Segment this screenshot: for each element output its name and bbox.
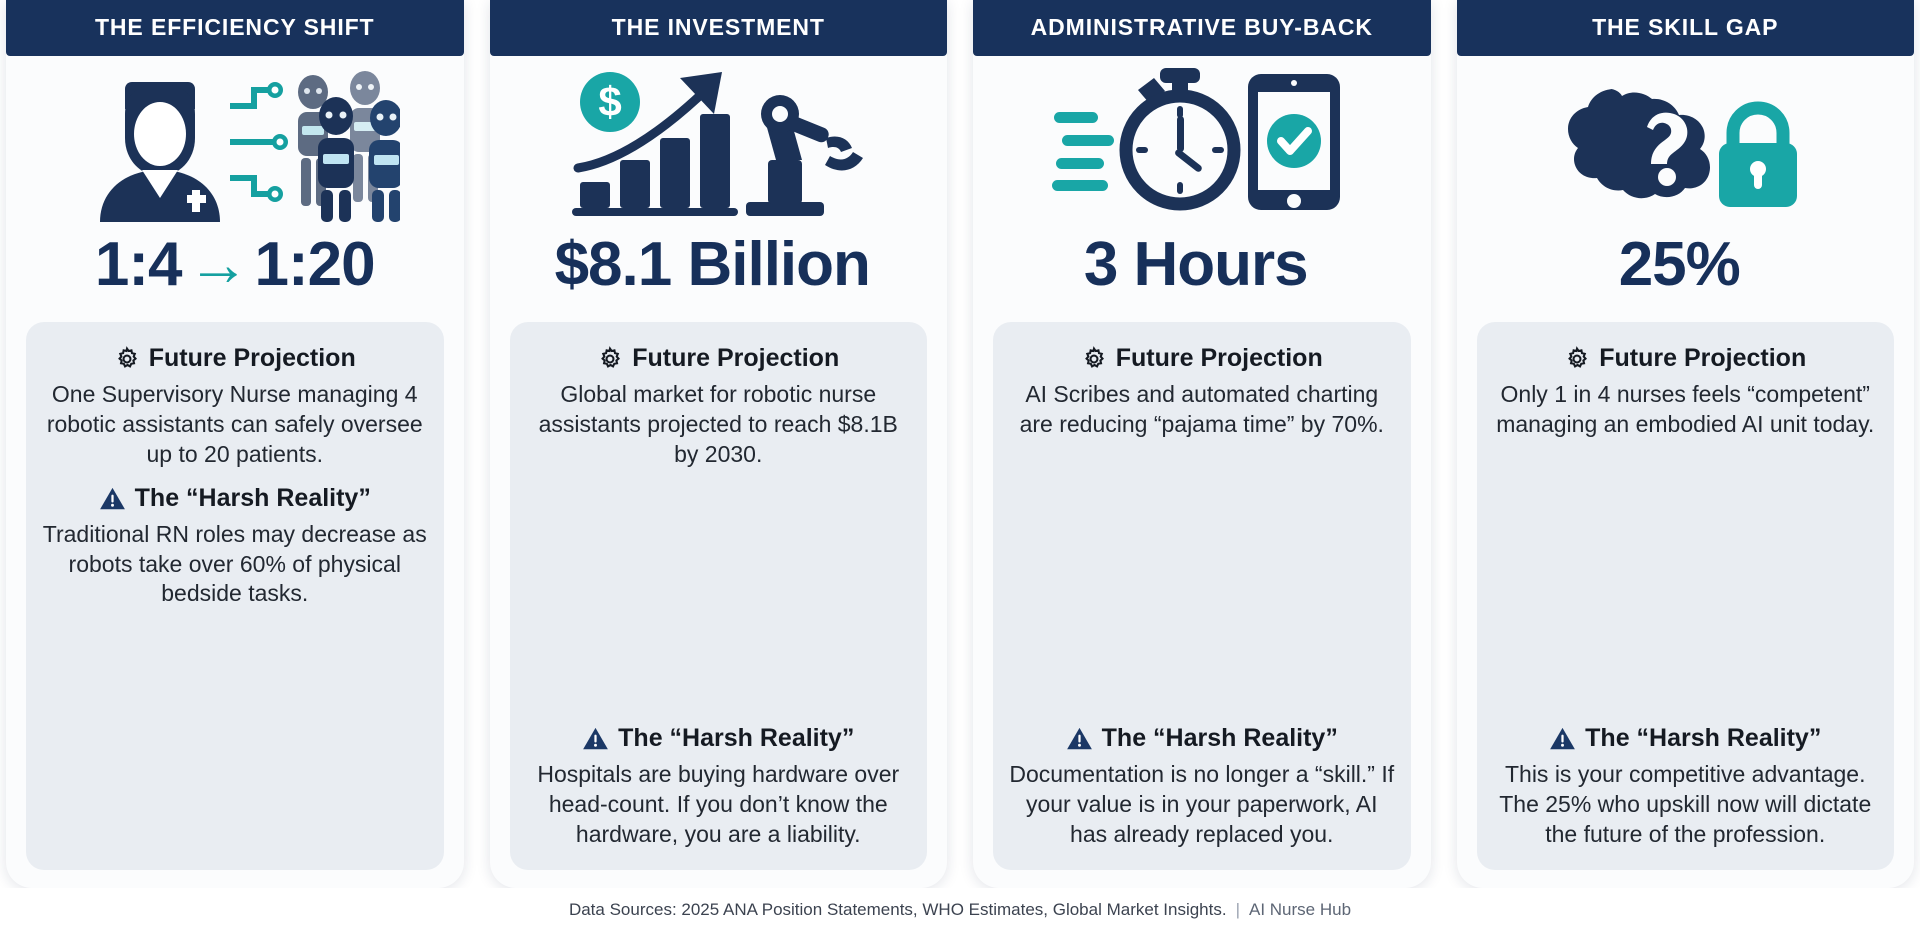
future-projection-label: Future Projection xyxy=(149,344,356,373)
stat-value: $8.1 Billion xyxy=(555,234,882,296)
warning-triangle-icon xyxy=(99,486,126,511)
warning-triangle-icon xyxy=(1066,726,1093,751)
future-projection-heading: Future Projection xyxy=(1007,344,1397,373)
future-projection-text: Only 1 in 4 nurses feels “competent” man… xyxy=(1491,380,1881,440)
card-header-title: THE SKILL GAP xyxy=(1457,0,1915,56)
footer-brand: AI Nurse Hub xyxy=(1249,900,1351,920)
detail-panel: Future Projection Global market for robo… xyxy=(510,322,928,870)
gear-icon xyxy=(597,346,623,372)
harsh-reality-text: This is your competitive advantage. The … xyxy=(1491,760,1881,850)
reality-group: The “Harsh Reality” Hospitals are buying… xyxy=(524,710,914,850)
detail-panel: Future Projection One Supervisory Nurse … xyxy=(26,322,444,870)
dollar-growth-robotarm-icon: $ xyxy=(510,56,928,228)
harsh-reality-label: The “Harsh Reality” xyxy=(1102,724,1338,753)
stopwatch-tablet-check-icon xyxy=(993,56,1411,228)
harsh-reality-heading: The “Harsh Reality” xyxy=(1491,724,1881,753)
card-body: 1:4→1:20 Future Projection One Superviso… xyxy=(6,56,464,888)
gear-icon xyxy=(114,346,140,372)
brain-question-lock-icon xyxy=(1477,56,1895,228)
projection-group: Future Projection Only 1 in 4 nurses fee… xyxy=(1491,344,1881,440)
card-body: 25% Future Projection Only 1 in 4 nurses… xyxy=(1457,56,1915,888)
future-projection-label: Future Projection xyxy=(1116,344,1323,373)
card-skill-gap: THE SKILL GAP xyxy=(1457,0,1915,888)
footer-separator: | xyxy=(1236,900,1240,920)
stat-before: 1:4 xyxy=(95,230,182,299)
projection-group: Future Projection Global market for robo… xyxy=(524,344,914,470)
warning-triangle-icon xyxy=(582,726,609,751)
harsh-reality-heading: The “Harsh Reality” xyxy=(1007,724,1397,753)
card-body: 3 Hours Future Projection AI Scribes and… xyxy=(973,56,1431,888)
harsh-reality-text: Hospitals are buying hardware over head-… xyxy=(524,760,914,850)
stat-arrow-icon xyxy=(1308,230,1320,299)
card-row: THE EFFICIENCY SHIFT xyxy=(0,0,1920,888)
gear-icon xyxy=(1081,346,1107,372)
stat-before: 25% xyxy=(1619,230,1740,299)
stat-arrow-icon xyxy=(1740,230,1752,299)
harsh-reality-label: The “Harsh Reality” xyxy=(1585,724,1821,753)
card-header-title: ADMINISTRATIVE BUY-BACK xyxy=(973,0,1431,56)
detail-panel: Future Projection Only 1 in 4 nurses fee… xyxy=(1477,322,1895,870)
stat-before: 3 Hours xyxy=(1084,230,1308,299)
stat-value: 25% xyxy=(1619,234,1752,296)
stat-value: 1:4→1:20 xyxy=(95,234,375,296)
stat-value: 3 Hours xyxy=(1084,234,1320,296)
svg-text:$: $ xyxy=(599,78,622,125)
card-administrative-buyback: ADMINISTRATIVE BUY-BACK xyxy=(973,0,1431,888)
future-projection-heading: Future Projection xyxy=(1491,344,1881,373)
stat-arrow-icon: → xyxy=(182,230,255,299)
future-projection-text: Global market for robotic nurse assistan… xyxy=(524,380,914,470)
detail-panel: Future Projection AI Scribes and automat… xyxy=(993,322,1411,870)
future-projection-heading: Future Projection xyxy=(40,344,430,373)
reality-group: The “Harsh Reality” Documentation is no … xyxy=(1007,710,1397,850)
card-body: $ xyxy=(490,56,948,888)
footer-sources: Data Sources: 2025 ANA Position Statemen… xyxy=(569,900,1227,920)
reality-group: The “Harsh Reality” This is your competi… xyxy=(1491,710,1881,850)
stat-after: 1:20 xyxy=(255,230,375,299)
card-investment: THE INVESTMENT $ xyxy=(490,0,948,888)
footer: Data Sources: 2025 ANA Position Statemen… xyxy=(0,888,1920,932)
harsh-reality-text: Documentation is no longer a “skill.” If… xyxy=(1007,760,1397,850)
card-header-title: THE EFFICIENCY SHIFT xyxy=(6,0,464,56)
harsh-reality-label: The “Harsh Reality” xyxy=(135,484,371,513)
stat-arrow-icon xyxy=(870,230,882,299)
card-header-title: THE INVESTMENT xyxy=(490,0,948,56)
card-efficiency-shift: THE EFFICIENCY SHIFT xyxy=(6,0,464,888)
infographic-board: THE EFFICIENCY SHIFT xyxy=(0,0,1920,932)
nurse-to-robots-icon xyxy=(26,56,444,228)
projection-group: Future Projection AI Scribes and automat… xyxy=(1007,344,1397,440)
future-projection-text: AI Scribes and automated charting are re… xyxy=(1007,380,1397,440)
harsh-reality-heading: The “Harsh Reality” xyxy=(524,724,914,753)
harsh-reality-text: Traditional RN roles may decrease as rob… xyxy=(40,520,430,610)
future-projection-heading: Future Projection xyxy=(524,344,914,373)
future-projection-text: One Supervisory Nurse managing 4 robotic… xyxy=(40,380,430,470)
gear-icon xyxy=(1564,346,1590,372)
future-projection-label: Future Projection xyxy=(1599,344,1806,373)
future-projection-label: Future Projection xyxy=(632,344,839,373)
harsh-reality-heading: The “Harsh Reality” xyxy=(40,484,430,513)
warning-triangle-icon xyxy=(1549,726,1576,751)
stat-before: $8.1 Billion xyxy=(555,230,870,299)
harsh-reality-label: The “Harsh Reality” xyxy=(618,724,854,753)
